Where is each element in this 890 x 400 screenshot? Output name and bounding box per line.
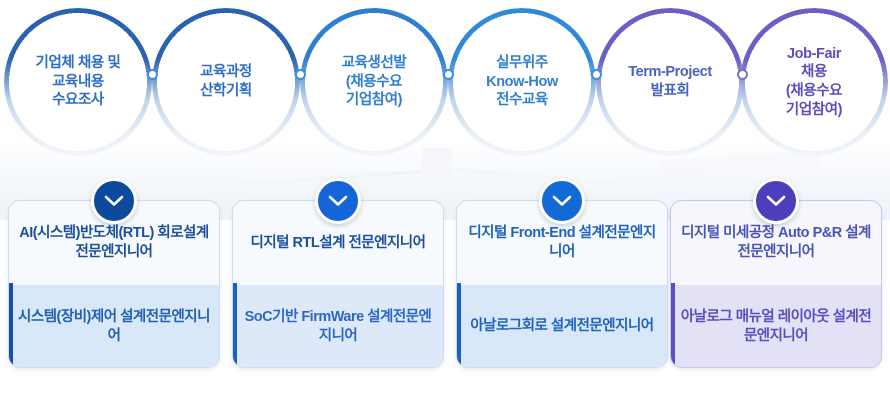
track-bottom-role: 아날로그회로 설계전문엔지니어 [457,285,667,368]
step-connector-4 [591,69,602,80]
chevron-down-icon [104,195,124,207]
process-step-6[interactable]: Job-Fair 채용 (채용수요 기업참여) [740,8,888,156]
chevron-down-icon [328,195,348,207]
process-step-label: Job-Fair 채용 (채용수요 기업참여) [776,45,852,119]
step-connector-2 [295,69,306,80]
process-step-3[interactable]: 교육생선발 (채용수요 기업참여) [300,8,448,156]
process-step-label: 교육생선발 (채용수요 기업참여) [332,54,417,110]
process-step-label: 교육과정 산학기획 [190,63,262,100]
track-bottom-role: 아날로그 매뉴얼 레이아웃 설계전문엔지니어 [671,285,881,368]
process-step-1[interactable]: 기업체 채용 및 교육내용 수요조사 [4,8,152,156]
process-steps-row: 기업체 채용 및 교육내용 수요조사 교육과정 산학기획 교육생선발 (채용수요… [0,0,890,160]
step-connector-1 [147,69,158,80]
track-bottom-role: 시스템(장비)제어 설계전문엔지니어 [9,285,219,368]
step-connector-3 [443,69,454,80]
track-accent-bar [233,283,237,367]
track-card-1[interactable]: AI(시스템)반도체(RTL) 회로설계전문엔지니어 시스템(장비)제어 설계전… [8,200,220,368]
process-step-label: Term-Project 발표회 [618,63,722,100]
track-toggle-2[interactable] [315,178,361,224]
track-toggle-4[interactable] [753,178,799,224]
track-accent-bar [671,283,675,367]
process-step-4[interactable]: 실무위주 Know-How 전수교육 [448,8,596,156]
track-card-4[interactable]: 디지털 미세공정 Auto P&R 설계전문엔지니어 아날로그 매뉴얼 레이아웃… [670,200,882,368]
track-card-3[interactable]: 디지털 Front-End 설계전문엔지니어 아날로그회로 설계전문엔지니어 [456,200,668,368]
chevron-down-icon [552,195,572,207]
track-toggle-1[interactable] [91,178,137,224]
track-card-2[interactable]: 디지털 RTL설계 전문엔지니어 SoC기반 FirmWare 설계전문엔지니어 [232,200,444,368]
track-bottom-role: SoC기반 FirmWare 설계전문엔지니어 [233,285,443,368]
process-step-5[interactable]: Term-Project 발표회 [596,8,744,156]
track-toggle-3[interactable] [539,178,585,224]
process-step-2[interactable]: 교육과정 산학기획 [152,8,300,156]
track-accent-bar [9,283,13,367]
chevron-down-icon [766,195,786,207]
process-step-label: 실무위주 Know-How 전수교육 [476,54,568,110]
step-connector-5 [737,69,748,80]
track-accent-bar [457,283,461,367]
process-step-label: 기업체 채용 및 교육내용 수요조사 [26,54,131,110]
process-diagram: 기업체 채용 및 교육내용 수요조사 교육과정 산학기획 교육생선발 (채용수요… [0,0,890,400]
